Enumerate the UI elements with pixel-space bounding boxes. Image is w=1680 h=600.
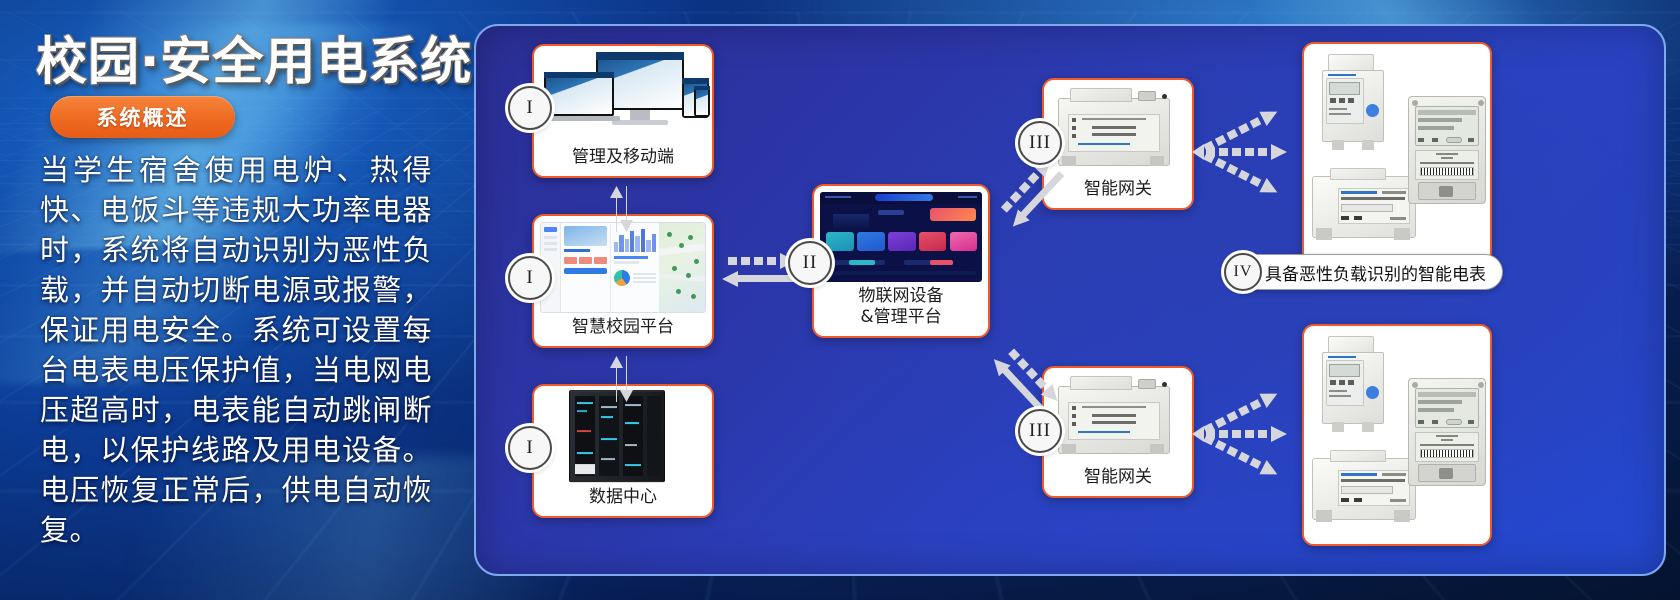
devices-icon (534, 46, 712, 145)
meter-group-label: 具备恶性负载识别的智能电表 (1230, 254, 1503, 290)
connector-gateway-top-to-meters (1192, 74, 1302, 229)
page-title: 校园·安全用电系统 (36, 20, 472, 94)
panel-meters-bottom[interactable] (1302, 324, 1492, 546)
intro-panel: 校园·安全用电系统 系统概述 当学生宿舍使用电炉、热得快、电饭斗等违规大功率电器… (0, 0, 470, 600)
node-iot-platform[interactable]: 物联网设备 &管理平台 (812, 184, 990, 338)
single-phase-meter-icon (1318, 336, 1396, 432)
badge-campus-platform: I (508, 256, 552, 300)
badge-iot-platform: II (788, 241, 832, 285)
connector-admin-to-campus (608, 186, 638, 237)
three-phase-meter-icon (1408, 96, 1488, 208)
node-label: 智能网关 (1044, 465, 1192, 496)
node-label: 物联网设备 &管理平台 (814, 284, 988, 336)
badge-gateway-top: III (1018, 121, 1062, 165)
meter-group-label-text: 具备恶性负载识别的智能电表 (1265, 260, 1486, 285)
connector-gateway-bottom-to-meters (1192, 356, 1302, 511)
section-badge-label: 系统概述 (97, 102, 189, 132)
three-phase-meter-icon (1408, 378, 1488, 490)
single-phase-meter-icon (1318, 54, 1396, 150)
architecture-diagram: 管理及移动端 I (474, 24, 1666, 576)
iot-dashboard-icon (814, 186, 988, 284)
badge-admin-mobile: I (508, 86, 552, 130)
description-text: 当学生宿舍使用电炉、热得快、电饭斗等违规大功率电器时，系统将自动识别为恶性负载，… (40, 150, 432, 550)
panel-meters-top[interactable] (1302, 42, 1492, 264)
badge-meter-group: IV (1224, 253, 1262, 291)
connector-campus-to-datacenter (608, 356, 638, 407)
node-label: 管理及移动端 (534, 145, 712, 176)
node-label: 智慧校园平台 (534, 315, 712, 346)
badge-gateway-bottom: III (1018, 409, 1062, 453)
node-admin-mobile[interactable]: 管理及移动端 (532, 44, 714, 178)
section-badge: 系统概述 (50, 96, 235, 138)
badge-data-center: I (508, 426, 552, 470)
node-label: 数据中心 (534, 485, 712, 516)
